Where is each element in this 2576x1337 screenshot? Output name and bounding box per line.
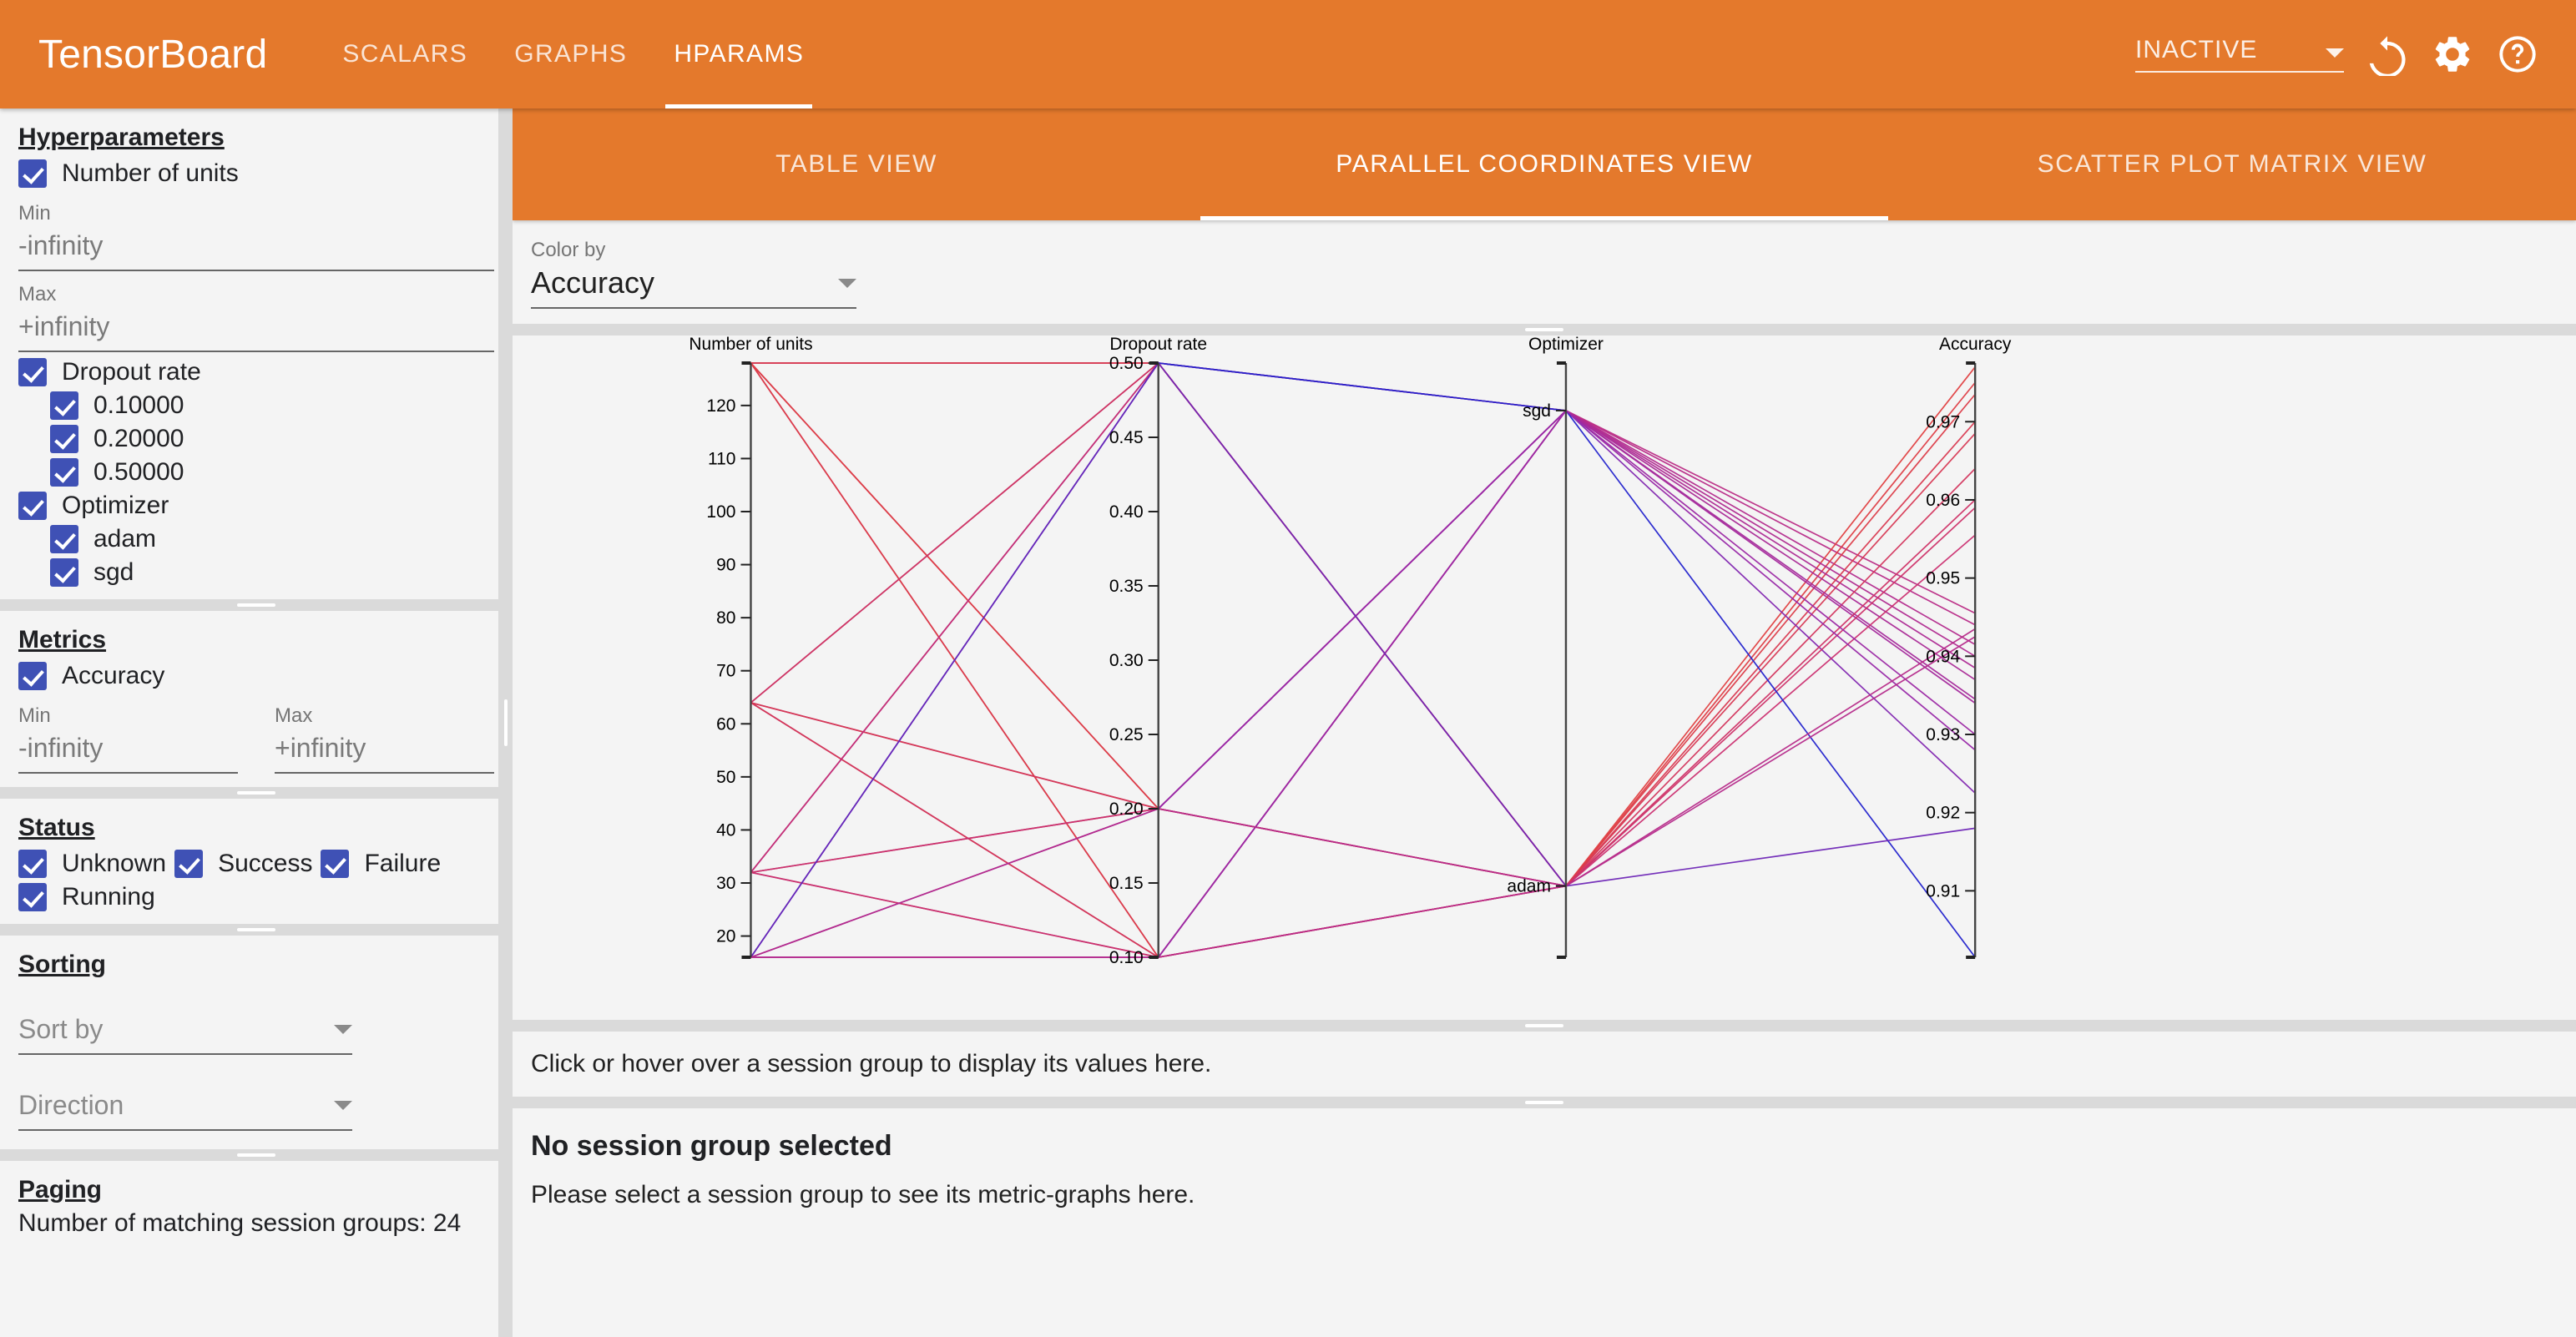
checkbox-label: adam — [93, 525, 156, 553]
parallel-coordinates-chart[interactable]: Number of units2030405060708090100110120… — [513, 336, 2576, 1020]
drag-grip — [504, 699, 508, 746]
checkbox-label: 0.50000 — [93, 458, 184, 487]
svg-text:110: 110 — [708, 449, 735, 468]
svg-text:0.20: 0.20 — [1109, 800, 1144, 819]
view-tabbar: TABLE VIEW PARALLEL COORDINATES VIEW SCA… — [513, 108, 2576, 220]
svg-text:0.15: 0.15 — [1109, 874, 1144, 893]
color-by-label: Color by — [531, 239, 856, 262]
pc-session-line — [751, 363, 1976, 809]
session-divider[interactable] — [513, 1097, 2576, 1108]
checkbox-label: sgd — [93, 558, 134, 587]
gear-icon[interactable] — [2431, 33, 2474, 76]
svg-text:Optimizer: Optimizer — [1528, 336, 1604, 354]
checkbox-icon[interactable] — [18, 492, 47, 520]
svg-text:120: 120 — [706, 396, 735, 416]
checkbox-number-of-units[interactable]: Number of units — [18, 157, 494, 190]
svg-text:50: 50 — [716, 768, 735, 787]
field-units-max: Max — [18, 283, 494, 352]
main-content: TABLE VIEW PARALLEL COORDINATES VIEW SCA… — [513, 108, 2576, 1337]
metrics-range-row: Min Max — [18, 693, 494, 777]
drag-grip — [1525, 1101, 1563, 1104]
chevron-down-icon — [2326, 48, 2344, 58]
checkbox-dropout-010[interactable]: 0.10000 — [18, 389, 494, 422]
pc-axis: Number of units2030405060708090100110120 — [689, 336, 812, 957]
checkbox-icon[interactable] — [50, 458, 78, 487]
checkbox-status-success[interactable]: Success — [174, 847, 312, 880]
checkbox-label: 0.10000 — [93, 391, 184, 420]
drag-grip — [1525, 1024, 1563, 1027]
app-bar-actions: INACTIVE — [2135, 33, 2539, 76]
field-label-max: Max — [275, 704, 494, 728]
colorby-bar: Color by Accuracy — [513, 220, 2576, 324]
color-by-value: Accuracy — [531, 265, 838, 300]
panel-divider-metrics[interactable] — [0, 787, 513, 799]
run-selector[interactable]: INACTIVE — [2135, 36, 2344, 73]
checkbox-icon[interactable] — [50, 558, 78, 587]
session-panel-subtitle: Please select a session group to see its… — [531, 1181, 2558, 1209]
nav-item-label: GRAPHS — [514, 40, 627, 68]
checkbox-label: 0.20000 — [93, 425, 184, 453]
run-selector-value: INACTIVE — [2135, 36, 2326, 64]
field-accuracy-min: Min — [18, 704, 238, 774]
drag-grip — [237, 791, 275, 795]
select-direction[interactable]: Direction — [18, 1090, 352, 1131]
svg-text:0.35: 0.35 — [1109, 577, 1144, 596]
checkbox-label: Optimizer — [62, 492, 169, 520]
pc-session-line — [751, 363, 1976, 644]
checkbox-label: Running — [62, 883, 155, 911]
sidebar-resize-handle[interactable] — [498, 108, 513, 1337]
nav-item-label: SCALARS — [342, 40, 467, 68]
svg-text:100: 100 — [706, 502, 735, 522]
checkbox-icon[interactable] — [18, 358, 47, 386]
svg-text:0.10: 0.10 — [1109, 948, 1144, 967]
pc-session-line — [751, 637, 1976, 957]
svg-text:0.40: 0.40 — [1109, 502, 1144, 522]
checkbox-accuracy[interactable]: Accuracy — [18, 659, 494, 693]
chevron-down-icon — [838, 279, 856, 288]
accuracy-max-input[interactable] — [275, 729, 494, 774]
panel-title-metrics: Metrics — [18, 626, 494, 654]
pc-session-line — [751, 363, 1976, 704]
tab-label: TABLE VIEW — [775, 150, 937, 179]
svg-text:0.91: 0.91 — [1926, 881, 1960, 901]
field-label-max: Max — [18, 283, 494, 306]
checkbox-icon[interactable] — [18, 883, 47, 911]
checkbox-icon[interactable] — [18, 850, 47, 878]
pc-session-line — [751, 411, 1976, 957]
checkbox-dropout-020[interactable]: 0.20000 — [18, 422, 494, 456]
panel-status: Status Unknown Success Failure Running — [0, 799, 513, 924]
svg-text:0.30: 0.30 — [1109, 651, 1144, 670]
svg-text:Number of units: Number of units — [689, 336, 812, 354]
tab-label: PARALLEL COORDINATES VIEW — [1336, 150, 1753, 179]
nav-item-label: HPARAMS — [674, 40, 804, 68]
svg-text:0.25: 0.25 — [1109, 725, 1144, 744]
checkbox-optimizer[interactable]: Optimizer — [18, 489, 494, 522]
tab-scatter-plot-matrix-view[interactable]: SCATTER PLOT MATRIX VIEW — [1888, 108, 2576, 220]
svg-text:20: 20 — [716, 927, 735, 946]
drag-grip — [237, 1153, 275, 1157]
checkbox-label: Dropout rate — [62, 358, 201, 386]
app-bar: TensorBoard SCALARS GRAPHS HPARAMS INACT… — [0, 0, 2576, 108]
parallel-coordinates-svg[interactable]: Number of units2030405060708090100110120… — [513, 336, 2562, 1020]
units-max-input[interactable] — [18, 308, 494, 352]
nav-item-hparams[interactable]: HPARAMS — [650, 0, 827, 108]
accuracy-min-input[interactable] — [18, 729, 238, 774]
pc-session-line — [751, 363, 1976, 957]
top-nav: SCALARS GRAPHS HPARAMS — [319, 0, 827, 108]
svg-text:0.92: 0.92 — [1926, 804, 1960, 823]
svg-text:70: 70 — [716, 662, 735, 681]
drag-grip — [1525, 328, 1563, 331]
pc-session-line — [751, 363, 1976, 957]
svg-text:0.94: 0.94 — [1926, 647, 1960, 666]
units-min-input[interactable] — [18, 227, 494, 271]
svg-text:Accuracy: Accuracy — [1939, 336, 2012, 354]
svg-text:90: 90 — [716, 556, 735, 575]
chevron-down-icon — [334, 1101, 352, 1110]
panel-title-status: Status — [18, 814, 494, 842]
panel-title-hyperparameters: Hyperparameters — [18, 124, 494, 152]
checkbox-label: Failure — [364, 850, 441, 878]
checkbox-label: Number of units — [62, 159, 239, 188]
nav-item-graphs[interactable]: GRAPHS — [491, 0, 650, 108]
pc-session-line — [751, 363, 1976, 957]
session-panel-title: No session group selected — [531, 1130, 2558, 1163]
field-label-min: Min — [18, 704, 238, 728]
panel-divider-sorting[interactable] — [0, 1149, 513, 1161]
svg-text:adam: adam — [1507, 877, 1551, 896]
checkbox-optimizer-adam[interactable]: adam — [18, 522, 494, 556]
checkbox-status-unknown[interactable]: Unknown — [18, 847, 166, 880]
chevron-down-icon — [334, 1025, 352, 1034]
help-circle-icon[interactable] — [2496, 33, 2539, 76]
pc-session-line — [751, 433, 1976, 957]
checkbox-icon[interactable] — [321, 850, 349, 878]
checkbox-icon[interactable] — [18, 159, 47, 188]
checkbox-icon[interactable] — [18, 662, 47, 690]
panel-metrics: Metrics Accuracy Min Max — [0, 611, 513, 787]
chart-divider-top[interactable] — [513, 324, 2576, 336]
drag-grip — [237, 928, 275, 931]
checkbox-icon[interactable] — [50, 525, 78, 553]
panel-paging: Paging Number of matching session groups… — [0, 1161, 513, 1248]
panel-title-sorting: Sorting — [18, 951, 494, 979]
session-graphs-panel: No session group selected Please select … — [513, 1108, 2576, 1337]
svg-text:0.96: 0.96 — [1926, 491, 1960, 510]
nav-item-scalars[interactable]: SCALARS — [319, 0, 491, 108]
select-direction-value: Direction — [18, 1090, 334, 1121]
panel-hyperparameters: Hyperparameters Number of units Min Max … — [0, 108, 513, 599]
tab-parallel-coordinates-view[interactable]: PARALLEL COORDINATES VIEW — [1200, 108, 1888, 220]
svg-text:80: 80 — [716, 608, 735, 628]
checkbox-icon[interactable] — [50, 391, 78, 420]
svg-text:0.93: 0.93 — [1926, 725, 1960, 744]
field-label-min: Min — [18, 202, 494, 225]
panel-title-paging: Paging — [18, 1176, 494, 1204]
body-wrap: Hyperparameters Number of units Min Max … — [0, 108, 2576, 1337]
svg-text:sgd: sgd — [1523, 401, 1551, 421]
svg-text:Dropout rate: Dropout rate — [1109, 336, 1207, 354]
tab-table-view[interactable]: TABLE VIEW — [513, 108, 1200, 220]
svg-text:0.45: 0.45 — [1109, 428, 1144, 447]
checkbox-label: Success — [218, 850, 312, 878]
svg-text:0.50: 0.50 — [1109, 354, 1144, 373]
pc-session-line — [751, 363, 1976, 872]
checkbox-icon[interactable] — [50, 425, 78, 453]
checkbox-optimizer-sgd[interactable]: sgd — [18, 556, 494, 589]
field-accuracy-max: Max — [275, 704, 494, 774]
refresh-icon[interactable] — [2366, 33, 2409, 76]
checkbox-status-failure[interactable]: Failure — [321, 847, 441, 880]
checkbox-icon[interactable] — [174, 850, 203, 878]
app-brand: TensorBoard — [38, 32, 267, 78]
panel-divider-hyperparameters[interactable] — [0, 599, 513, 611]
pc-session-line — [751, 411, 1976, 872]
select-sort-by-value: Sort by — [18, 1014, 334, 1045]
svg-text:0.97: 0.97 — [1926, 412, 1960, 431]
panel-sorting: Sorting Sort by Direction — [0, 936, 513, 1149]
svg-text:0.95: 0.95 — [1926, 569, 1960, 588]
status-checkbox-group: Unknown Success Failure Running — [18, 847, 494, 914]
checkbox-status-running[interactable]: Running — [18, 880, 155, 914]
pc-session-line — [751, 421, 1976, 885]
svg-text:40: 40 — [716, 820, 735, 840]
select-color-by[interactable]: Color by Accuracy — [531, 239, 856, 309]
drag-grip — [237, 603, 275, 607]
svg-text:60: 60 — [716, 714, 735, 734]
sidebar: Hyperparameters Number of units Min Max … — [0, 108, 513, 1337]
pc-axis: Dropout rate0.100.150.200.250.300.350.40… — [1109, 336, 1207, 967]
checkbox-label: Accuracy — [62, 662, 164, 690]
pc-lines — [751, 363, 1976, 957]
panel-divider-status[interactable] — [0, 924, 513, 936]
session-values-panel: Click or hover over a session group to d… — [513, 1032, 2576, 1097]
pc-session-line — [751, 363, 1976, 957]
checkbox-dropout-rate[interactable]: Dropout rate — [18, 356, 494, 389]
session-values-hint: Click or hover over a session group to d… — [531, 1050, 2558, 1078]
checkbox-dropout-050[interactable]: 0.50000 — [18, 456, 494, 489]
select-sort-by[interactable]: Sort by — [18, 1014, 352, 1055]
field-units-min: Min — [18, 202, 494, 271]
tab-label: SCATTER PLOT MATRIX VIEW — [2038, 150, 2427, 179]
checkbox-label: Unknown — [62, 850, 166, 878]
paging-matching-count: Number of matching session groups: 24 — [18, 1209, 494, 1238]
chart-divider-bottom[interactable] — [513, 1020, 2576, 1032]
svg-text:30: 30 — [716, 874, 735, 893]
